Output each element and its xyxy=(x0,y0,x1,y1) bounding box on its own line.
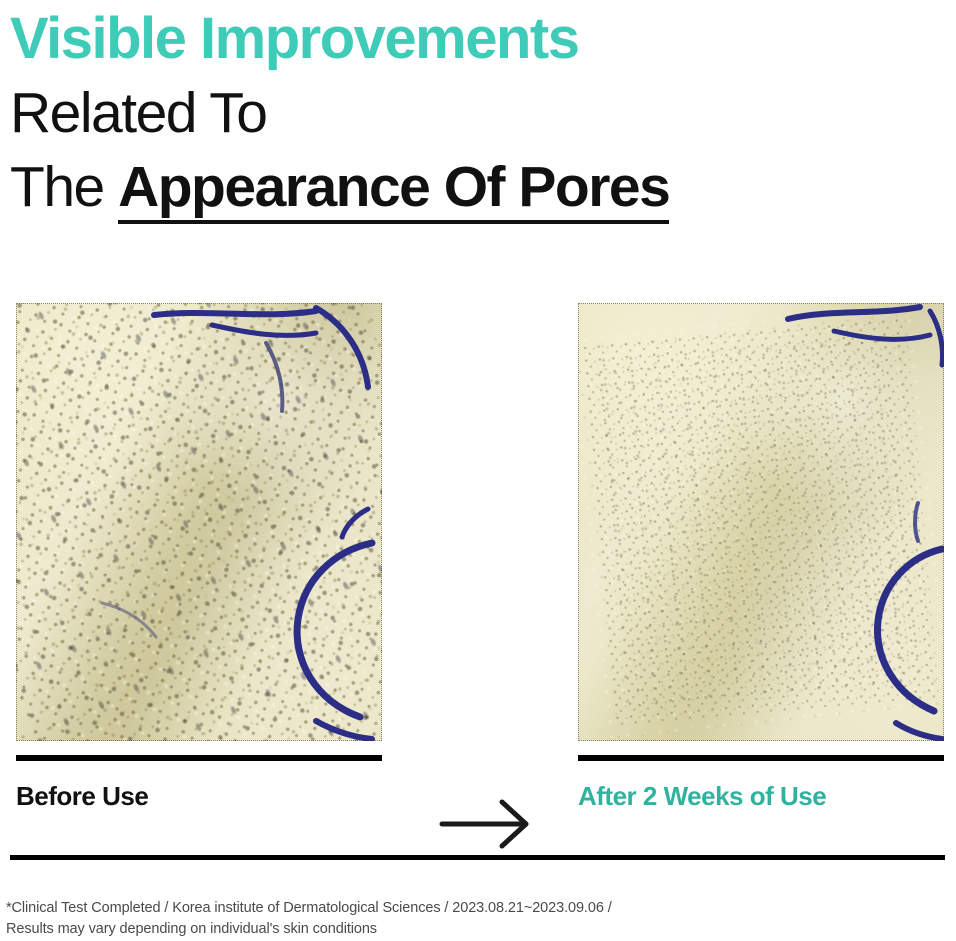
headline-line-3-emphasis: Appearance Of Pores xyxy=(118,155,669,224)
dermatoscope-ink-marks xyxy=(16,303,382,741)
after-skin-image xyxy=(578,303,944,741)
promo-page: Visible Improvements Related To The Appe… xyxy=(0,0,956,941)
headline-line-2: Related To xyxy=(10,76,940,150)
headline-line-1: Visible Improvements xyxy=(10,2,940,76)
after-divider-rule xyxy=(578,755,944,761)
before-panel: Before Use xyxy=(16,303,382,812)
after-panel: After 2 Weeks of Use xyxy=(578,303,944,812)
dermatoscope-ink-marks xyxy=(578,303,944,741)
page-title: Visible Improvements Related To The Appe… xyxy=(10,2,940,224)
before-skin-image xyxy=(16,303,382,741)
before-after-comparison: Before Use xyxy=(0,300,956,750)
footnote-line-1: *Clinical Test Completed / Korea institu… xyxy=(6,898,946,919)
right-arrow-icon xyxy=(438,798,534,850)
footnote: *Clinical Test Completed / Korea institu… xyxy=(6,898,946,940)
headline-line-3-prefix: The xyxy=(10,155,118,219)
before-caption: Before Use xyxy=(16,781,382,812)
footer-divider-rule xyxy=(10,855,945,860)
footnote-line-2: Results may vary depending on individual… xyxy=(6,919,946,940)
before-divider-rule xyxy=(16,755,382,761)
headline-line-3: The Appearance Of Pores xyxy=(10,150,940,224)
after-caption: After 2 Weeks of Use xyxy=(578,781,944,812)
